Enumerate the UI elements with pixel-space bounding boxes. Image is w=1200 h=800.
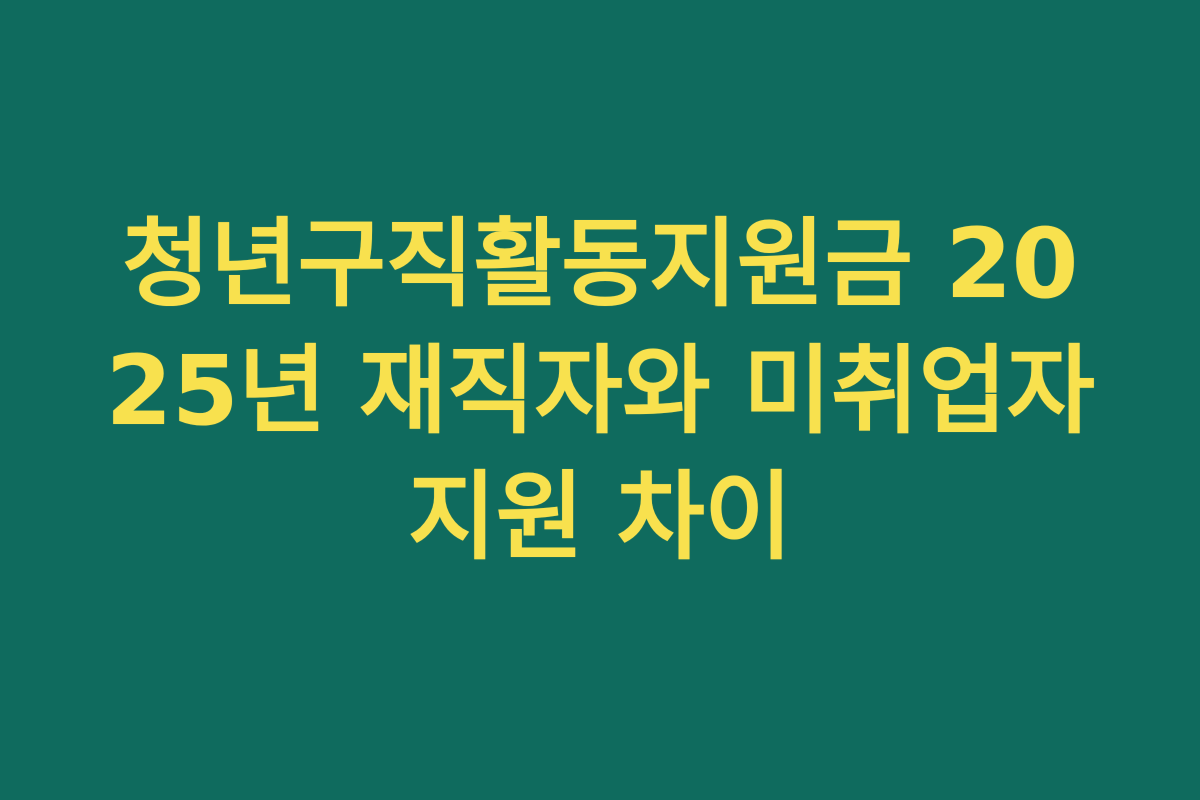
thumbnail-card: 청년구직활동지원금 2025년 재직자와 미취업자 지원 차이: [0, 0, 1200, 800]
page-title: 청년구직활동지원금 2025년 재직자와 미취업자 지원 차이: [95, 201, 1105, 581]
title-block: 청년구직활동지원금 2025년 재직자와 미취업자 지원 차이: [95, 201, 1105, 599]
